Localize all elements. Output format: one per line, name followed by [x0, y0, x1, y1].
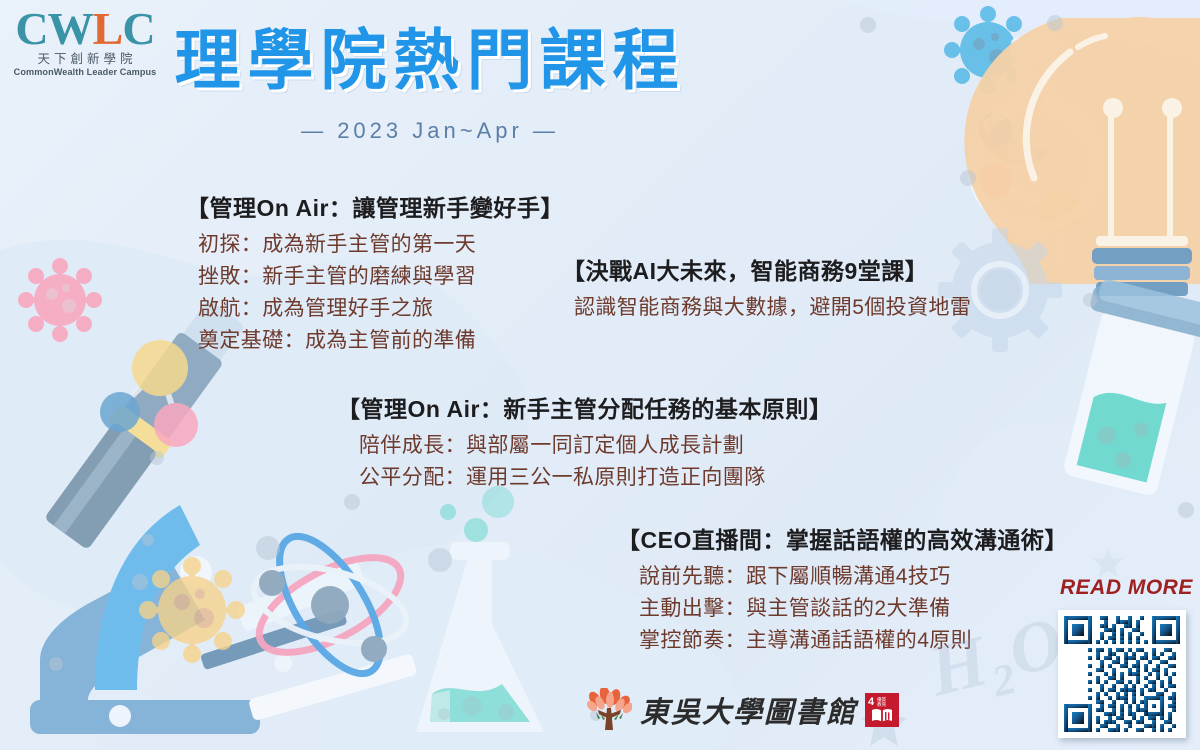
course-item: 挫敗：新手主管的磨練與學習 — [198, 261, 564, 293]
sdg-number: 4 — [868, 696, 875, 708]
atom-icon — [245, 521, 415, 689]
course-item: 認識智能商務與大數據，避開5個投資地雷 — [574, 292, 971, 324]
page-title: 理學院熱門課程 — [170, 28, 690, 94]
molecule-icon — [978, 113, 1082, 262]
qr-code[interactable] — [1058, 610, 1186, 738]
sdg-label-2: 教育 — [877, 701, 887, 708]
library-brand: 東吳大學圖書館 4 優質 教育 — [586, 688, 899, 732]
logo-wordmark: CWLC — [10, 6, 160, 52]
course-heading: 【管理On Air：新手主管分配任務的基本原則】 — [337, 390, 832, 424]
molecule-icon — [100, 340, 198, 447]
page-subtitle: — 2023 Jan~Apr — — [170, 118, 690, 144]
flask-icon — [416, 486, 544, 732]
star-icon — [1093, 548, 1123, 577]
course-item: 陪伴成長：與部屬一同訂定個人成長計劃 — [359, 430, 832, 462]
course-item: 啟航：成為管理好手之旅 — [198, 293, 564, 325]
course-item-list: 認識智能商務與大數據，避開5個投資地雷 — [562, 292, 971, 324]
course-item: 說前先聽：跟下屬順暢溝通4技巧 — [639, 561, 1068, 593]
course-block: 【管理On Air：讓管理新手變好手】 初探：成為新手主管的第一天 挫敗：新手主… — [186, 189, 564, 357]
read-more-label[interactable]: READ MORE — [1060, 576, 1193, 600]
virus-icon — [944, 6, 1032, 94]
logo-letter-w: W — [48, 3, 93, 54]
qr-code-graphic[interactable] — [1064, 616, 1180, 732]
sdg-label-1: 優質 — [877, 696, 887, 703]
poster-canvas: CWLC 天下創新學院 CommonWealth Leader Campus 理… — [0, 0, 1200, 750]
watermark-h: H — [921, 620, 997, 712]
lightbulb-icon — [964, 17, 1200, 296]
course-heading: 【決戰AI大未來，智能商務9堂課】 — [562, 252, 971, 286]
logo-letter-c1: C — [15, 3, 47, 54]
virus-icon — [139, 557, 245, 663]
course-item: 初探：成為新手主管的第一天 — [198, 229, 564, 261]
beaker-icon — [1049, 276, 1200, 500]
course-heading: 【CEO直播間：掌握話語權的高效溝通術】 — [617, 521, 1068, 555]
course-block: 【決戰AI大未來，智能商務9堂課】 認識智能商務與大數據，避開5個投資地雷 — [562, 252, 971, 324]
course-block: 【管理On Air：新手主管分配任務的基本原則】 陪伴成長：與部屬一同訂定個人成… — [337, 390, 832, 494]
logo-chinese-name: 天下創新學院 — [10, 53, 160, 66]
logo-letter-c2: C — [122, 3, 154, 54]
course-item-list: 陪伴成長：與部屬一同訂定個人成長計劃 公平分配：運用三公一私原則打造正向團隊 — [337, 430, 832, 494]
microscope-icon — [30, 293, 417, 734]
logo-letter-l: L — [93, 3, 123, 54]
tree-icon — [586, 688, 632, 732]
virus-icon — [18, 258, 102, 342]
logo-english-name: CommonWealth Leader Campus — [13, 68, 157, 78]
flask-icon — [973, 38, 1097, 228]
course-item: 公平分配：運用三公一私原則打造正向團隊 — [359, 462, 832, 494]
course-item: 奠定基礎：成為主管前的準備 — [198, 325, 564, 357]
cwlc-logo: CWLC 天下創新學院 CommonWealth Leader Campus — [10, 6, 160, 77]
course-heading: 【管理On Air：讓管理新手變好手】 — [186, 189, 564, 223]
library-name: 東吳大學圖書館 — [640, 689, 857, 731]
course-item-list: 初探：成為新手主管的第一天 挫敗：新手主管的磨練與學習 啟航：成為管理好手之旅 … — [186, 229, 564, 357]
sdg-book-icon: 4 優質 教育 — [865, 693, 899, 727]
